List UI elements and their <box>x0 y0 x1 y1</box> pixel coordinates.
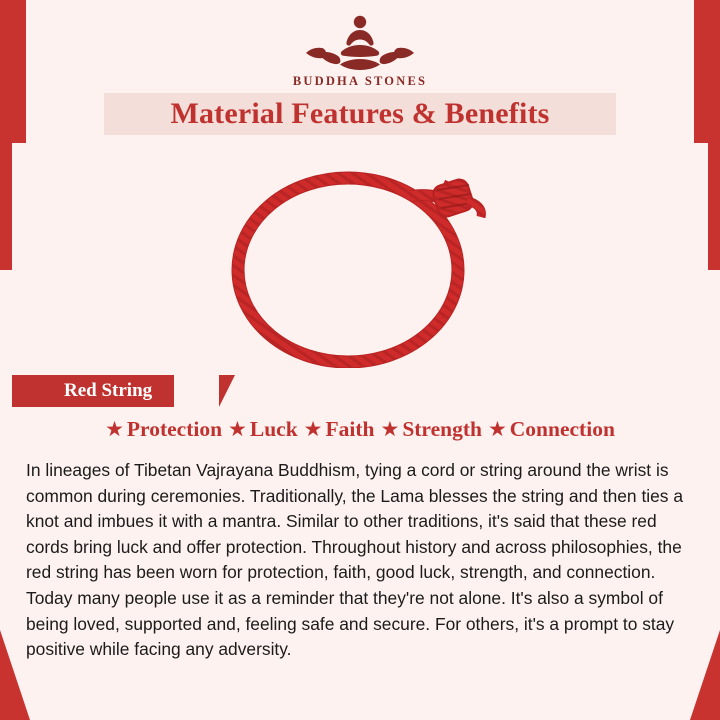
star-icon: ★ <box>488 419 507 440</box>
ribbon-tail <box>219 375 235 407</box>
star-icon: ★ <box>105 419 124 440</box>
lotus-meditation-icon <box>300 10 420 72</box>
product-label: Red String <box>64 380 152 402</box>
star-icon: ★ <box>380 419 399 440</box>
section-title-band: Material Features & Benefits <box>104 93 616 135</box>
decorative-edge-right-middle <box>708 150 720 270</box>
decorative-edge-left-middle <box>0 150 12 270</box>
star-icon: ★ <box>228 419 247 440</box>
benefit-item: ★ Luck <box>228 419 298 441</box>
benefit-label: Strength <box>402 419 482 441</box>
infographic-page: BUDDHA STONES Material Features & Benefi… <box>0 0 720 720</box>
benefit-item: ★ Strength <box>380 419 481 441</box>
benefit-item: ★ Protection <box>105 419 222 441</box>
benefit-item: ★ Connection <box>488 419 615 441</box>
red-braided-string-bracelet-image <box>215 163 505 368</box>
star-icon: ★ <box>304 419 323 440</box>
benefit-label: Faith <box>326 419 375 441</box>
brand-logo: BUDDHA STONES <box>0 10 720 89</box>
benefit-label: Luck <box>250 419 298 441</box>
benefit-label: Connection <box>510 419 615 441</box>
brand-name: BUDDHA STONES <box>0 74 720 89</box>
benefits-row: ★ Protection ★ Luck ★ Faith ★ Strength ★… <box>0 419 720 441</box>
product-label-ribbon: Red String <box>12 375 174 407</box>
product-image-area <box>12 143 708 375</box>
benefit-item: ★ Faith <box>304 419 375 441</box>
benefit-label: Protection <box>127 419 222 441</box>
description-text: In lineages of Tibetan Vajrayana Buddhis… <box>26 458 698 663</box>
page-title: Material Features & Benefits <box>170 97 549 131</box>
